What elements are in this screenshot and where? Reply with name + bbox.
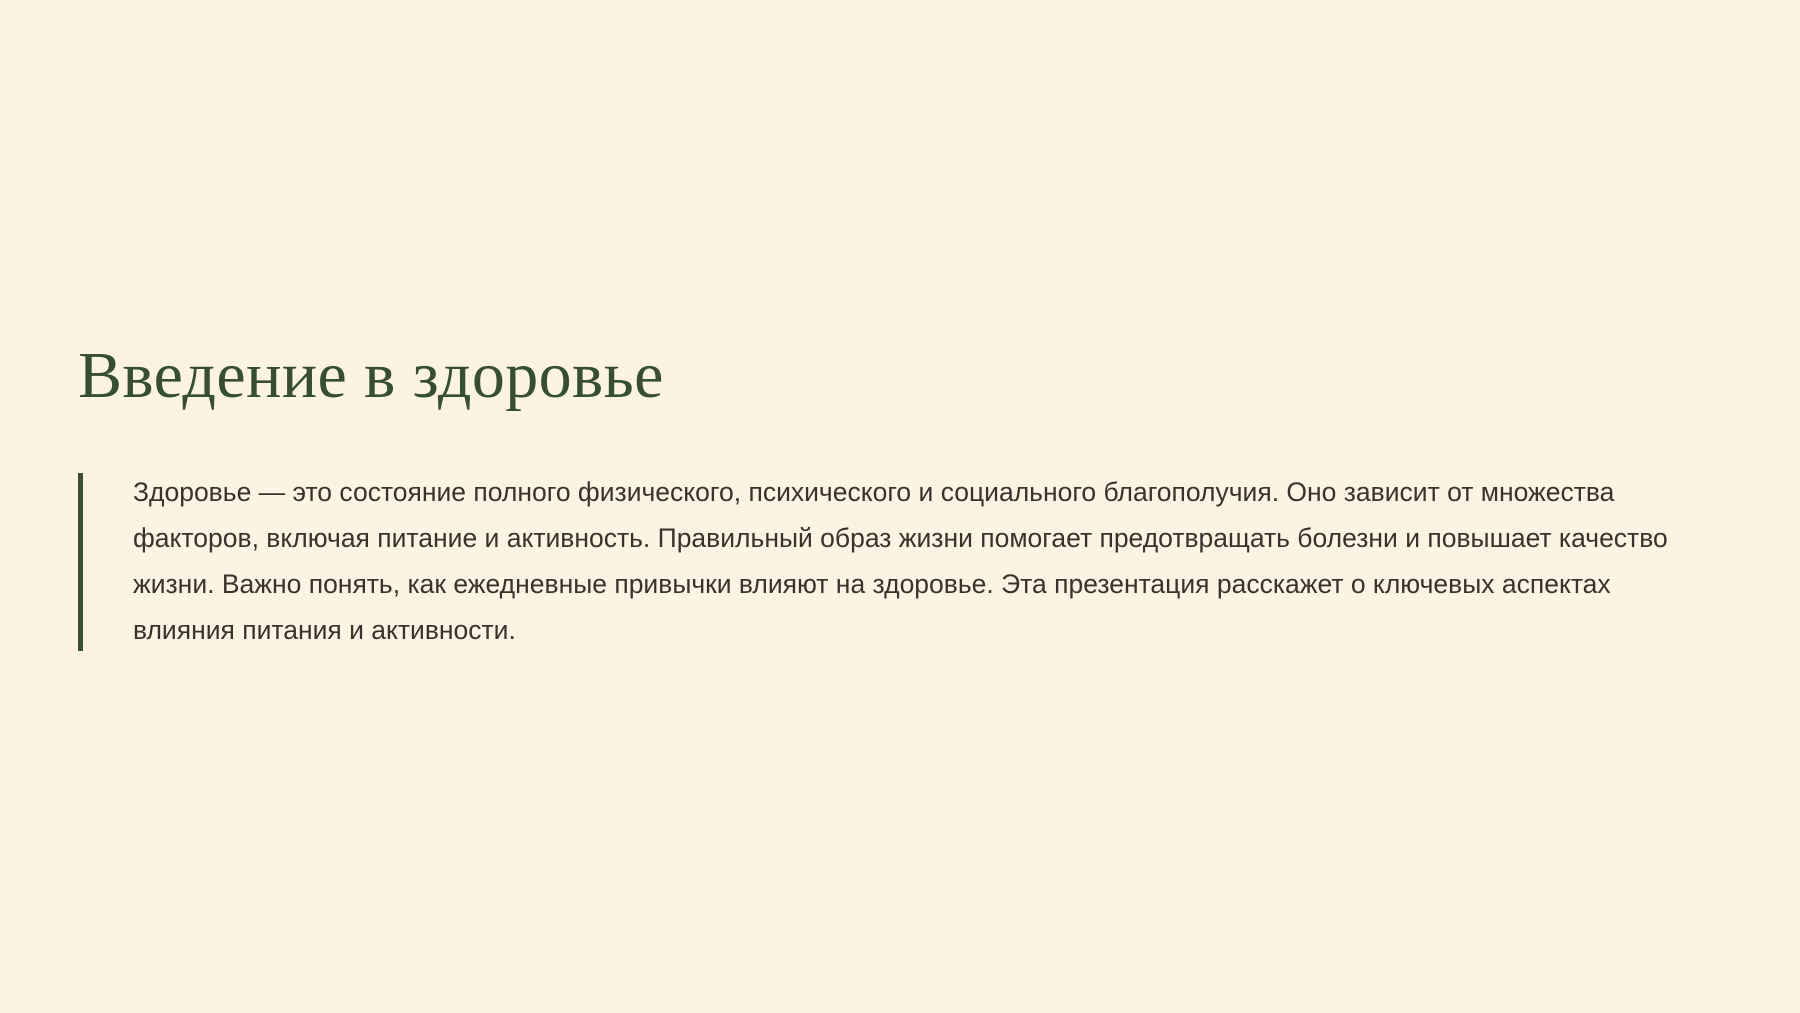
slide: Введение в здоровье Здоровье — это состо… [0,0,1800,1013]
body-text-block: Здоровье — это состояние полного физичес… [78,469,1698,653]
slide-content: Введение в здоровье Здоровье — это состо… [78,340,1698,653]
page-title: Введение в здоровье [78,340,1698,411]
accent-bar [78,473,83,651]
body-paragraph: Здоровье — это состояние полного физичес… [133,469,1698,653]
